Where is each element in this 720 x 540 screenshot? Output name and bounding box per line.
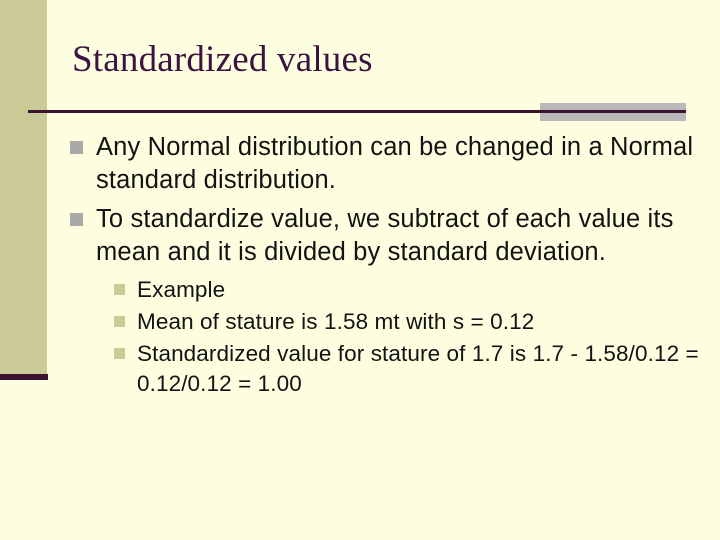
list-item: Standardized value for stature of 1.7 is… bbox=[114, 339, 700, 399]
list-item: Example bbox=[114, 275, 700, 305]
list-item-label: Any Normal distribution can be changed i… bbox=[96, 131, 700, 197]
bullet-square-icon bbox=[114, 284, 125, 295]
list-item-label: Example bbox=[137, 275, 700, 305]
slide-title: Standardized values bbox=[72, 38, 672, 82]
slide: Standardized values Any Normal distribut… bbox=[0, 0, 720, 540]
list-item: To standardize value, we subtract of eac… bbox=[70, 203, 700, 269]
bullet-square-icon bbox=[70, 213, 83, 226]
bullet-square-icon bbox=[114, 348, 125, 359]
list-item: Any Normal distribution can be changed i… bbox=[70, 131, 700, 197]
bullet-square-icon bbox=[70, 141, 83, 154]
left-accent-band-footer-bar bbox=[0, 374, 48, 380]
list-item: Mean of stature is 1.58 mt with s = 0.12 bbox=[114, 307, 700, 337]
list-item-label: Mean of stature is 1.58 mt with s = 0.12 bbox=[137, 307, 700, 337]
list-item-label: To standardize value, we subtract of eac… bbox=[96, 203, 700, 269]
left-accent-band bbox=[0, 0, 47, 378]
sub-list: Example Mean of stature is 1.58 mt with … bbox=[114, 275, 700, 399]
title-divider-rule bbox=[28, 110, 686, 113]
slide-body: Any Normal distribution can be changed i… bbox=[70, 131, 700, 401]
bullet-square-icon bbox=[114, 316, 125, 327]
list-item-label: Standardized value for stature of 1.7 is… bbox=[137, 339, 700, 399]
